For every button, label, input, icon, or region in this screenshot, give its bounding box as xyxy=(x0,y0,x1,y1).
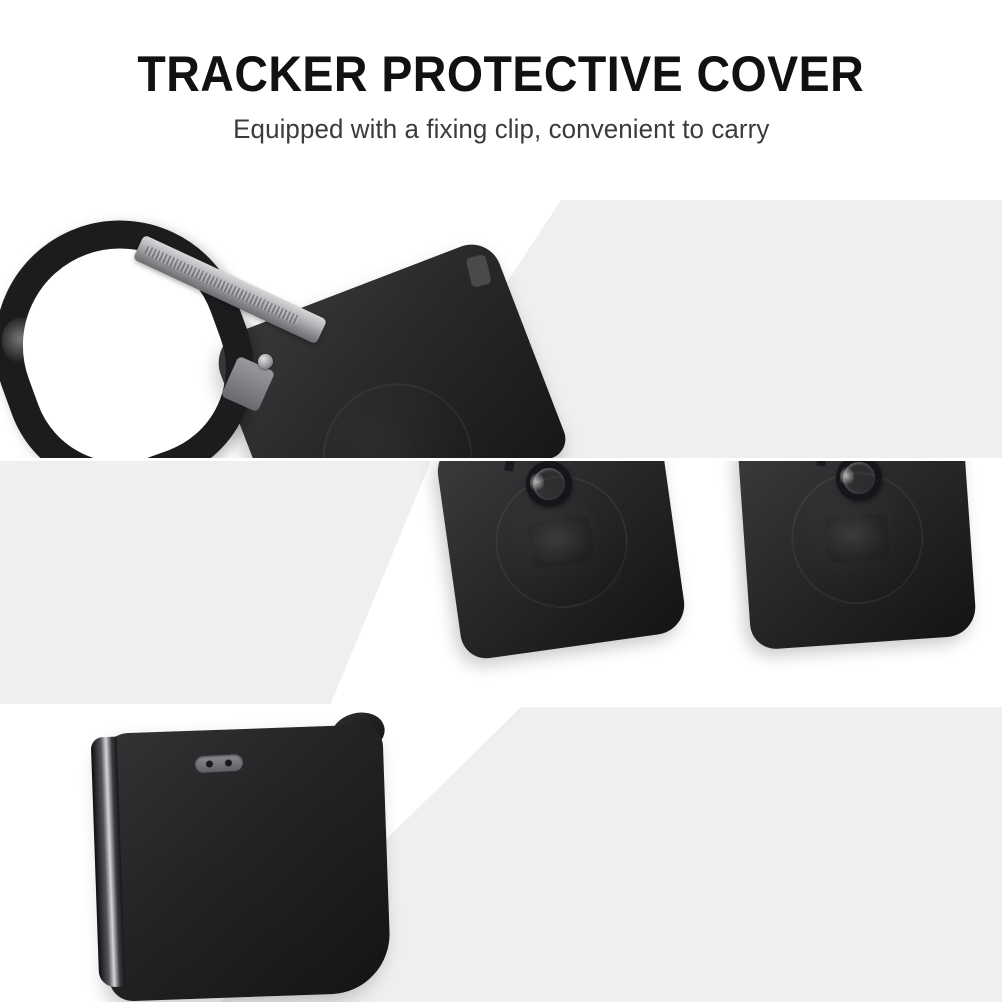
product-infographic: TRACKER PROTECTIVE COVER Equipped with a… xyxy=(0,0,1002,1002)
header-banner: TRACKER PROTECTIVE COVER Equipped with a… xyxy=(0,0,1002,200)
tracker-cover-photo-right xyxy=(744,461,1002,704)
cover-notch xyxy=(466,254,492,288)
embossed-logo-glyph xyxy=(825,513,890,563)
tracker-cover-photo-left xyxy=(448,461,718,704)
page-subtitle: Equipped with a fixing clip, convenient … xyxy=(233,114,769,145)
cover-highlight xyxy=(401,746,468,948)
tracker-cover-body xyxy=(209,236,571,458)
precise-cut-photo xyxy=(85,717,505,1002)
feature-section-2: 2 CONVENIENT TO CARRY xyxy=(0,461,1002,704)
cutout-hole xyxy=(224,759,231,766)
page-title: TRACKER PROTECTIVE COVER xyxy=(138,48,865,101)
embossed-logo-circle xyxy=(301,361,495,458)
feature-section-1: 1 EQUIPPED WITH A FIXING CLIP xyxy=(0,200,1002,458)
speaker-cutout xyxy=(195,754,244,773)
embossed-logo-glyph xyxy=(528,515,596,569)
metal-ring xyxy=(526,461,572,507)
cutout-hole xyxy=(206,760,213,767)
carabiner-rivet xyxy=(258,354,273,369)
tracker-cover-body xyxy=(100,724,391,1002)
feature-section-3: 3 PRECISE CUT xyxy=(0,707,1002,1002)
carabiner-clip-photo xyxy=(0,202,550,458)
